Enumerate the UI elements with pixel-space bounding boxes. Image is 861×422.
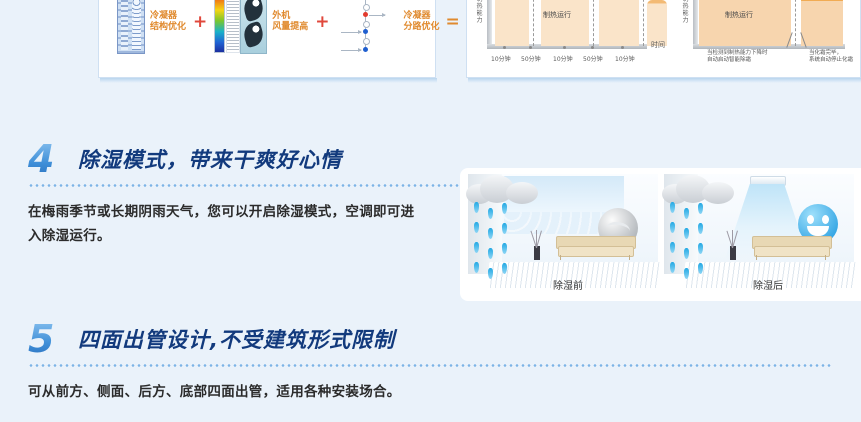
label-line2: 结构优化: [150, 22, 186, 32]
formula-label-fan: 外机 风量提高: [272, 11, 308, 33]
time-tick: 50分钟: [521, 54, 541, 63]
section-5-title: 四面出管设计,不受建筑形式限制: [78, 322, 395, 358]
room-before: 除湿前: [468, 174, 658, 294]
defrost-note-end: 当化霜完毕， 系统自动停止化霜: [809, 50, 853, 64]
chart-ylabel: 制热能力: [475, 0, 484, 24]
label-line1: 冷凝器: [150, 11, 177, 21]
time-tick: 10分钟: [615, 54, 635, 63]
label-line1: 外机: [272, 11, 290, 21]
label-line2: 分路优化: [404, 22, 440, 32]
chart-y-axis: [693, 0, 698, 44]
formula-item-fan: 外机 风量提高: [214, 0, 308, 54]
label-before: 除湿前: [508, 277, 628, 292]
thermal-spectrum-icon: [214, 0, 225, 53]
operator-plus-2: +: [315, 12, 329, 32]
defrost-charts-panel: 制热能力 除霜 除霜 除霜 制热运行: [466, 0, 861, 78]
time-tick: 10分钟: [553, 54, 573, 63]
dehumidify-before-after: 除湿前: [460, 168, 861, 301]
chart-intelligent-defrost: 制热能力 除霜 制热运行 当检测到制热能力下降时 自动启动智能除霜 当化霜完毕，…: [681, 0, 859, 74]
time-tick: 10分钟: [491, 54, 511, 63]
section-5-number: 5: [28, 318, 54, 360]
room-after: 除湿后: [664, 174, 854, 294]
section-5-header: 5 四面出管设计,不受建筑形式限制: [0, 320, 861, 362]
outdoor-fan-icon: [240, 0, 267, 54]
operator-plus-1: +: [193, 12, 207, 32]
chart-ylabel: 制热能力: [681, 0, 690, 24]
section-5-divider: [28, 364, 833, 367]
potted-plant-icon: [528, 226, 546, 260]
section-4-number: 4: [28, 138, 54, 180]
formula-item-circuit: 冷凝器 分路优化: [337, 0, 440, 54]
defrost-note-start: 当检测到制热能力下降时 自动启动智能除霜: [707, 50, 768, 64]
panel-shadow-right: [468, 78, 861, 83]
heating-bar: [699, 0, 791, 46]
label-line1: 冷凝器: [404, 11, 431, 21]
heating-bar: [541, 0, 589, 46]
time-tick: 50分钟: [583, 54, 603, 63]
panel-shadow-left: [100, 78, 437, 83]
sofa-icon: [752, 236, 830, 260]
strong-heating-formula: 冷凝器 结构优化 + 外机 风量提高 +: [99, 0, 437, 78]
potted-plant-icon: [724, 226, 742, 260]
formula-item-condenser: 冷凝器 结构优化: [117, 0, 186, 54]
operator-equals: =: [446, 12, 460, 32]
circuit-diagram-icon: [337, 0, 399, 54]
section-4-body: 在梅雨季节或长期阴雨天气，您可以开启除湿模式，空调即可进入除湿运行。: [28, 200, 428, 248]
heating-bar: [801, 0, 843, 46]
heating-bar: [599, 0, 639, 46]
section-5: 5 四面出管设计,不受建筑形式限制 可从前方、侧面、后方、底部四面出管，适用各种…: [0, 320, 861, 362]
formula-label-circuit: 冷凝器 分路优化: [404, 11, 440, 33]
strong-heating-panel: 冷凝器 结构优化 + 外机 风量提高 +: [98, 0, 436, 78]
chart-conventional-defrost: 制热能力 除霜 除霜 除霜 制热运行: [475, 0, 671, 74]
label-after: 除湿后: [708, 277, 828, 292]
heating-bar: [495, 0, 529, 46]
defrost-comparison-charts: 制热能力 除霜 除霜 除霜 制热运行: [467, 0, 861, 78]
product-feature-page: 冷凝器 结构优化 + 外机 风量提高 +: [0, 0, 861, 422]
chart-xlabel: 时间: [651, 40, 665, 50]
sofa-icon: [556, 236, 634, 260]
chart-y-axis: [487, 0, 492, 44]
chart-run-label: 制热运行: [725, 10, 753, 20]
top-panel-row: 冷凝器 结构优化 + 外机 风量提高 +: [0, 0, 861, 114]
chart-run-label: 制热运行: [543, 10, 571, 20]
section-5-body: 可从前方、侧面、后方、底部四面出管，适用各种安装场合。: [28, 380, 528, 404]
formula-label-condenser: 冷凝器 结构优化: [150, 11, 186, 33]
spectrum-scale-icon: [226, 0, 240, 53]
label-line2: 风量提高: [272, 22, 308, 32]
rain-cloud-icon: [662, 174, 736, 204]
condenser-coil-icon: [117, 0, 145, 54]
section-4-title: 除湿模式，带来干爽好心情: [78, 142, 342, 178]
rain-cloud-icon: [466, 174, 540, 204]
